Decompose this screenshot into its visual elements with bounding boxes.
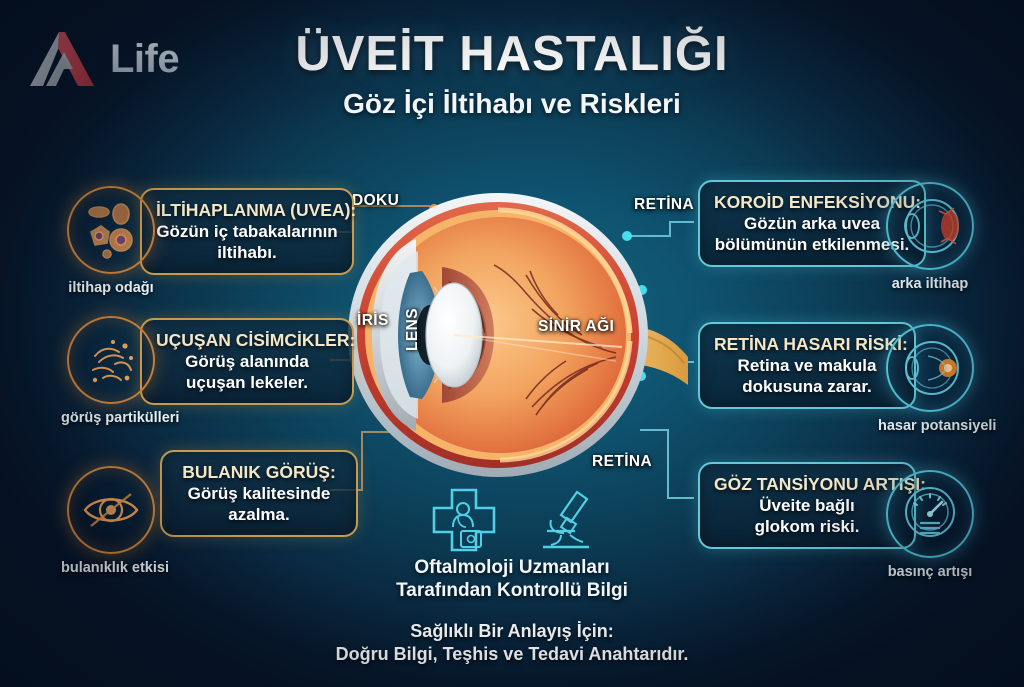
page-title: ÜVEİT HASTALIĞI [0, 26, 1024, 82]
page-subtitle: Göz İçi İltihabı ve Riskleri [0, 88, 1024, 120]
retina-damage-eye-icon [886, 324, 974, 412]
card-line2: iltihabı. [156, 243, 338, 263]
card-line2: uçuşan lekeler. [156, 373, 338, 393]
badge-label: iltihap odağı [61, 280, 161, 296]
floaters-particles-icon [67, 316, 155, 404]
badge-gorus-partikulleri: görüş partikülleri [61, 316, 161, 426]
eye-label-doku: DOKU [352, 192, 399, 210]
footer-caption-line2: Tarafından Kontrollü Bilgi [0, 579, 1024, 602]
footer-note-line2: Doğru Bilgi, Teşhis ve Tedavi Anahtarıdı… [0, 643, 1024, 666]
badge-iltihap-odagi: iltihap odağı [61, 186, 161, 296]
posterior-eye-inflammation-icon [886, 182, 974, 270]
card-heading: UÇUŞAN CİSİMCİKLER: [156, 330, 338, 351]
footer-caption-line1: Oftalmoloji Uzmanları [0, 556, 1024, 579]
infographic-canvas: Life ÜVEİT HASTALIĞI Göz İçi İltihabı ve… [0, 0, 1024, 687]
card-heading: BULANIK GÖRÜŞ: [176, 462, 342, 483]
card-line1: Gözün iç tabakalarının [156, 222, 338, 242]
card-line2: dokusuna zarar. [714, 377, 900, 397]
footer-note: Sağlıklı Bir Anlayış İçin: Doğru Bilgi, … [0, 620, 1024, 666]
eye-label-retina-top: RETİNA [634, 196, 694, 214]
badge-label: görüş partikülleri [61, 410, 161, 426]
inflammation-cells-icon [67, 186, 155, 274]
eye-label-nerve: SİNİR AĞI [538, 318, 614, 336]
footer-note-line1: Sağlıklı Bir Anlayış İçin: [0, 620, 1024, 643]
footer-caption: Oftalmoloji Uzmanları Tarafından Kontrol… [0, 556, 1024, 602]
card-heading: RETİNA HASARI RİSKİ: [714, 334, 900, 355]
card-ucusan-cisimcikler[interactable]: UÇUŞAN CİSİMCİKLER: Görüş alanında uçuşa… [140, 318, 354, 405]
eye-label-iris: İRİS [357, 312, 389, 330]
eye-label-lens: LENS [404, 308, 422, 351]
eye-anatomy-diagram [330, 175, 690, 495]
badge-label: arka iltihap [878, 276, 982, 292]
footer-icon-row [0, 487, 1024, 553]
badge-label: hasar potansiyeli [878, 418, 982, 434]
badge-arka-iltihap: arka iltihap [878, 182, 982, 292]
card-line1: Görüş alanında [156, 352, 338, 372]
microscope-icon [537, 487, 599, 553]
medical-cross-doctor-icon [425, 487, 503, 553]
card-heading: İLTİHAPLANMA (UVEA): [156, 200, 338, 221]
badge-hasar-potansiyeli: hasar potansiyeli [878, 324, 982, 434]
eye-label-retina-bottom: RETİNA [592, 453, 652, 471]
card-iltihaplanma[interactable]: İLTİHAPLANMA (UVEA): Gözün iç tabakaları… [140, 188, 354, 275]
card-line1: Retina ve makula [714, 356, 900, 376]
